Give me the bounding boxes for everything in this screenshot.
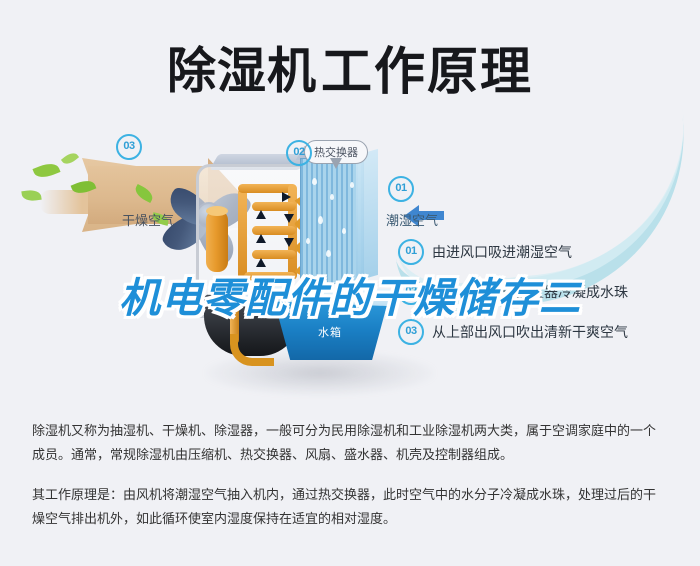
flow-arrow-up-icon [256, 258, 266, 267]
legend-item: 03 从上部出风口吹出清新干爽空气 [398, 322, 698, 342]
flow-arrow-down-icon [284, 238, 294, 247]
flow-arrow-down-icon [284, 214, 294, 223]
leaf-icon [32, 160, 60, 181]
refrigerant-pipe [238, 188, 247, 280]
callout-tail-icon [330, 158, 342, 169]
leaf-icon [61, 150, 79, 167]
legend-text: 潮湿空气经过蒸发器冷凝成水珠 [432, 282, 628, 302]
evaporator-fins [300, 158, 364, 284]
condensate-drop [330, 194, 334, 200]
page-root: 除湿机工作原理 [0, 0, 700, 566]
condensate-drop [312, 178, 317, 185]
condensate-drop [350, 182, 354, 188]
humid-air-label: 潮湿空气 [386, 210, 438, 229]
condensate-drop [306, 238, 310, 244]
flow-arrow-up-icon [256, 234, 266, 243]
diagram-marker-03: 03 [116, 134, 142, 160]
legend-number: 03 [398, 319, 424, 345]
legend-text: 从上部出风口吹出清新干爽空气 [432, 322, 628, 342]
dry-air-label: 干燥空气 [122, 210, 174, 229]
diagram-marker-02: 02 [286, 140, 312, 166]
compressor-cap [206, 206, 228, 216]
evaporator-face [356, 149, 378, 281]
legend-item: 01 由进风口吸进潮湿空气 [398, 242, 698, 262]
leaf-icon [21, 189, 41, 203]
page-title-part1: 除湿机 [167, 43, 317, 100]
description-paragraph-2: 其工作原理是：由风机将潮湿空气抽入机内，通过热交换器，此时空气中的水分子冷凝成水… [32, 483, 668, 531]
refrigerant-pipe [244, 272, 296, 281]
diagram-marker-01: 01 [388, 176, 414, 202]
water-tank-label: 水箱 [300, 324, 360, 340]
legend-number: 02 [398, 279, 424, 305]
legend-number: 01 [398, 239, 424, 265]
description-paragraph-1: 除湿机又称为抽湿机、干燥机、除湿器，一般可分为民用除湿机和工业除湿机两大类，属于… [32, 419, 668, 467]
flow-arrow-up-icon [256, 210, 266, 219]
page-title-part2: 工作原理 [321, 45, 533, 101]
condensate-drop [318, 216, 323, 224]
compressor-icon [206, 210, 228, 272]
flow-arrow-right-icon [282, 192, 291, 202]
legend-text: 由进风口吸进潮湿空气 [432, 242, 572, 262]
condensate-drop [342, 228, 346, 234]
page-title: 除湿机工作原理 [0, 30, 700, 104]
condensate-drop [326, 250, 331, 257]
legend-list: 01 由进风口吸进潮湿空气 02 潮湿空气经过蒸发器冷凝成水珠 03 从上部出风… [398, 242, 698, 362]
legend-item: 02 潮湿空气经过蒸发器冷凝成水珠 [398, 282, 698, 302]
